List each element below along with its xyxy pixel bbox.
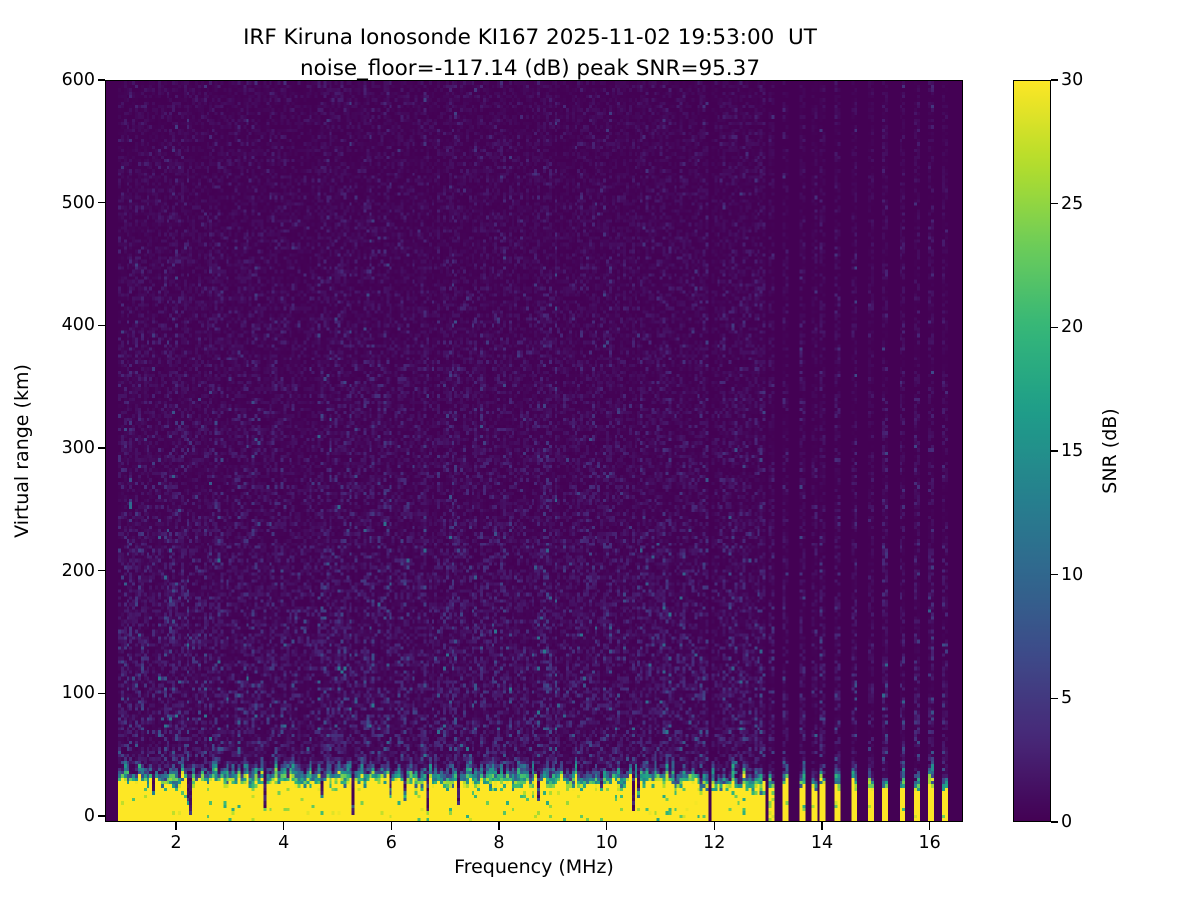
- x-tick-mark: [606, 822, 607, 830]
- x-tick-mark: [714, 822, 715, 830]
- y-tick-label: 600: [62, 70, 95, 90]
- y-tick-label: 300: [62, 438, 95, 458]
- y-tick-label: 400: [62, 315, 95, 335]
- y-tick-label: 100: [62, 683, 95, 703]
- colorbar-tick-mark: [1051, 574, 1058, 575]
- colorbar-tick-mark: [1051, 203, 1058, 204]
- x-tick-label: 10: [596, 833, 618, 853]
- colorbar: [1013, 80, 1051, 822]
- x-tick-mark: [821, 822, 822, 830]
- colorbar-tick-mark: [1051, 821, 1058, 822]
- colorbar-tick-label: 20: [1061, 317, 1083, 337]
- y-tick-label: 0: [84, 806, 95, 826]
- colorbar-tick-mark: [1051, 450, 1058, 451]
- ionogram-heatmap-canvas: [106, 81, 962, 821]
- chart-title: IRF Kiruna Ionosonde KI167 2025-11-02 19…: [0, 22, 1060, 84]
- x-tick-label: 8: [493, 833, 504, 853]
- x-tick-label: 2: [170, 833, 181, 853]
- colorbar-tick-label: 5: [1061, 688, 1072, 708]
- y-tick-mark: [98, 202, 106, 203]
- y-tick-mark: [98, 570, 106, 571]
- y-tick-mark: [98, 79, 106, 80]
- y-tick-mark: [98, 693, 106, 694]
- colorbar-tick-mark: [1051, 327, 1058, 328]
- colorbar-tick-label: 0: [1061, 812, 1072, 832]
- y-tick-mark: [98, 815, 106, 816]
- y-axis-label-text: Virtual range (km): [11, 364, 33, 538]
- x-tick-mark: [283, 822, 284, 830]
- x-tick-label: 12: [703, 833, 725, 853]
- colorbar-tick-mark: [1051, 698, 1058, 699]
- colorbar-gradient: [1014, 81, 1050, 821]
- colorbar-tick-label: 15: [1061, 441, 1083, 461]
- x-axis-label: Frequency (MHz): [105, 856, 963, 878]
- ionogram-plot-area[interactable]: [105, 80, 963, 822]
- x-tick-mark: [929, 822, 930, 830]
- y-tick-label: 200: [62, 561, 95, 581]
- y-tick-label: 500: [62, 193, 95, 213]
- x-tick-label: 16: [918, 833, 940, 853]
- ionogram-figure: IRF Kiruna Ionosonde KI167 2025-11-02 19…: [0, 0, 1200, 900]
- y-tick-mark: [98, 325, 106, 326]
- x-tick-mark: [498, 822, 499, 830]
- title-line-1: IRF Kiruna Ionosonde KI167 2025-11-02 19…: [0, 22, 1060, 53]
- colorbar-tick-label: 30: [1061, 70, 1083, 90]
- colorbar-label-text: SNR (dB): [1099, 408, 1121, 493]
- y-tick-mark: [98, 447, 106, 448]
- colorbar-tick-mark: [1051, 79, 1058, 80]
- colorbar-tick-label: 10: [1061, 565, 1083, 585]
- colorbar-tick-label: 25: [1061, 194, 1083, 214]
- x-tick-mark: [391, 822, 392, 830]
- x-tick-label: 4: [278, 833, 289, 853]
- x-tick-label: 6: [386, 833, 397, 853]
- x-tick-label: 14: [811, 833, 833, 853]
- x-tick-mark: [175, 822, 176, 830]
